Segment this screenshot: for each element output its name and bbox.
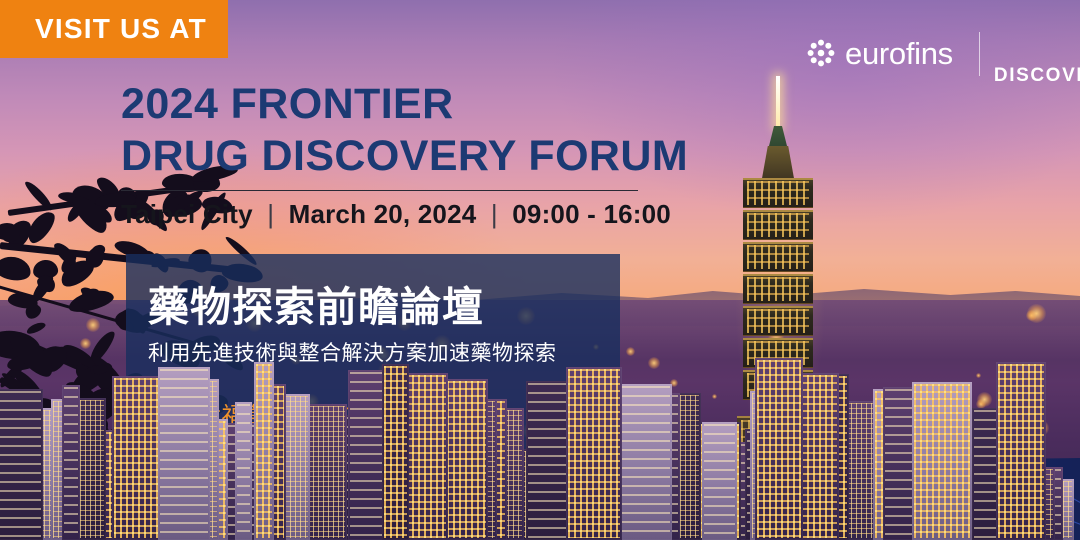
building-windows <box>704 424 735 538</box>
building-windows <box>914 384 970 538</box>
building-windows <box>160 369 208 538</box>
building-windows <box>114 378 163 538</box>
headline-line-1: 2024 FRONTIER <box>121 78 681 130</box>
tower-segment <box>743 274 813 304</box>
building-windows <box>757 360 800 538</box>
city-building <box>702 422 737 540</box>
building-windows <box>308 406 345 538</box>
city-light <box>977 392 992 407</box>
city-building <box>755 358 802 540</box>
event-location: Taipei City <box>121 199 253 229</box>
tower-segment <box>743 210 813 240</box>
eurofins-logo[interactable]: eurofins DISCOVERY <box>806 30 1080 76</box>
city-building <box>618 384 671 540</box>
building-windows <box>0 391 41 538</box>
detail-separator-2: | <box>484 199 505 229</box>
visit-us-badge: VISIT US AT <box>0 0 228 58</box>
city-building <box>254 362 274 540</box>
building-windows <box>568 369 620 538</box>
tower-segment <box>743 306 813 336</box>
city-light <box>86 318 100 332</box>
city-building <box>283 394 310 540</box>
city-building <box>404 373 448 540</box>
city-building <box>306 404 347 540</box>
event-headline: 2024 FRONTIER DRUG DISCOVERY FORUM <box>121 78 681 182</box>
tower-spire <box>776 76 780 128</box>
chinese-title: 藥物探索前瞻論壇 <box>148 273 484 333</box>
city-light <box>712 394 717 399</box>
logo-divider <box>979 32 980 76</box>
city-building <box>566 367 622 540</box>
building-windows <box>285 396 308 538</box>
event-date: March 20, 2024 <box>289 199 477 229</box>
building-windows <box>384 366 407 538</box>
building-windows <box>406 375 446 538</box>
headline-divider <box>121 190 638 191</box>
city-building <box>996 362 1047 540</box>
eurofins-wordmark: eurofins <box>845 38 953 69</box>
chinese-subtitle: 利用先進技術與整合解決方案加速藥物探索 <box>148 337 557 367</box>
building-windows <box>237 404 250 538</box>
city-light <box>80 338 91 349</box>
city-building <box>382 364 409 540</box>
city-light <box>648 357 660 369</box>
city-building <box>78 398 106 540</box>
city-building <box>158 367 210 540</box>
detail-separator-1: | <box>260 199 281 229</box>
building-windows <box>620 386 669 538</box>
event-banner: VISIT US AT 2024 FRONTIER DRUG DISCOVERY… <box>0 0 1080 540</box>
eurofins-division-label: DISCOVERY <box>994 65 1080 87</box>
city-building <box>112 376 165 540</box>
eurofins-dots-icon <box>806 38 836 68</box>
city-building <box>235 402 252 540</box>
tower-segment <box>743 242 813 272</box>
city-light <box>976 373 981 378</box>
city-building <box>912 382 972 540</box>
city-building <box>0 389 43 540</box>
building-windows <box>998 364 1045 538</box>
city-light <box>626 347 635 356</box>
building-windows <box>80 400 104 538</box>
visit-us-label: VISIT US AT <box>0 13 207 45</box>
tower-segment <box>743 178 813 208</box>
building-windows <box>256 364 272 538</box>
headline-line-2: DRUG DISCOVERY FORUM <box>121 130 681 182</box>
building-windows <box>64 387 79 538</box>
city-building <box>62 385 81 540</box>
event-time: 09:00 - 16:00 <box>512 199 671 229</box>
city-light <box>1027 304 1046 323</box>
event-details: Taipei City | March 20, 2024 | 09:00 - 1… <box>121 199 671 230</box>
